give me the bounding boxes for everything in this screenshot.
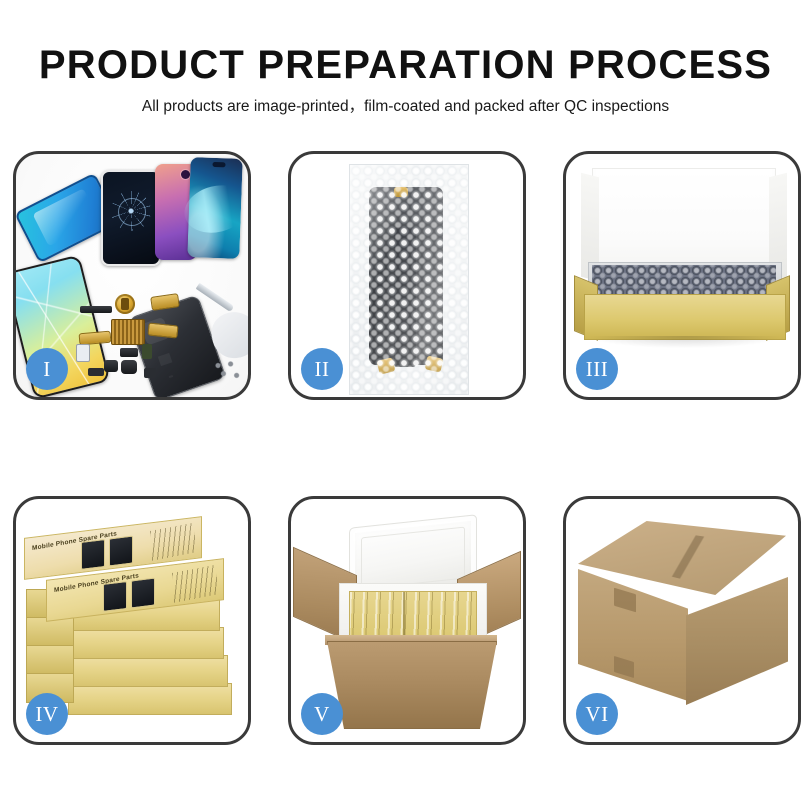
- step-badge: V: [301, 693, 343, 735]
- process-step-1: I: [13, 151, 251, 400]
- small-component-part: [104, 360, 118, 372]
- process-step-grid: I II: [13, 151, 801, 796]
- small-component-part: [120, 348, 138, 357]
- step-badge: I: [26, 348, 68, 390]
- phone-wallpaper-swirl: [179, 179, 248, 239]
- step-badge: VI: [576, 693, 618, 735]
- stacked-box: [60, 627, 224, 659]
- sim-tray-part: [76, 344, 90, 362]
- process-step-5: V: [288, 496, 526, 745]
- small-component-part: [144, 368, 156, 378]
- box-spec-lines: [150, 523, 196, 561]
- speaker-coil-part: [115, 294, 135, 314]
- stacked-box: [64, 655, 228, 687]
- teal-phone-shape: [187, 157, 242, 259]
- small-component-part: [88, 368, 104, 376]
- box-shadow: [590, 336, 780, 348]
- process-step-3: III: [563, 151, 801, 400]
- plastic-sheen: [350, 165, 468, 394]
- step-badge: II: [301, 348, 343, 390]
- step-badge: IV: [26, 693, 68, 735]
- stacked-box-edge: [26, 617, 74, 647]
- box-front-panel: [584, 294, 786, 340]
- page-title: PRODUCT PREPARATION PROCESS: [0, 42, 811, 88]
- box-spec-lines: [172, 565, 218, 603]
- box-window-screen: [131, 578, 155, 609]
- header: PRODUCT PREPARATION PROCESS All products…: [0, 42, 811, 117]
- small-component-part: [121, 360, 137, 374]
- process-step-4: Mobile Phone Spare Parts Mobile Phone Sp…: [13, 496, 251, 745]
- box-window-screen: [103, 581, 127, 612]
- carton-left-face: [578, 569, 688, 701]
- phone-notch: [212, 162, 225, 167]
- chip-grid-part: [111, 319, 145, 345]
- page-subtitle: All products are image-printed，film-coat…: [0, 97, 811, 117]
- process-step-2: II: [288, 151, 526, 400]
- bubble-wrapped-screen: [349, 164, 469, 395]
- earpiece-mesh-part: [80, 306, 112, 313]
- product-preparation-process-page: PRODUCT PREPARATION PROCESS All products…: [0, 0, 811, 811]
- process-step-6: VI: [563, 496, 801, 745]
- crack-ring: [118, 198, 146, 226]
- screws-group: [212, 360, 242, 382]
- cracked-glass-shape: [101, 170, 161, 266]
- carton-right-face: [686, 577, 788, 705]
- box-window-screen: [109, 536, 133, 567]
- bubble-wrapped-contents: [592, 265, 776, 296]
- box-window-screen: [81, 539, 105, 570]
- carton-front-panel: [327, 641, 497, 729]
- stacked-box: [68, 683, 232, 715]
- battery-connector-part: [142, 344, 152, 359]
- stacked-box-edge: [26, 645, 74, 675]
- step-badge: III: [576, 348, 618, 390]
